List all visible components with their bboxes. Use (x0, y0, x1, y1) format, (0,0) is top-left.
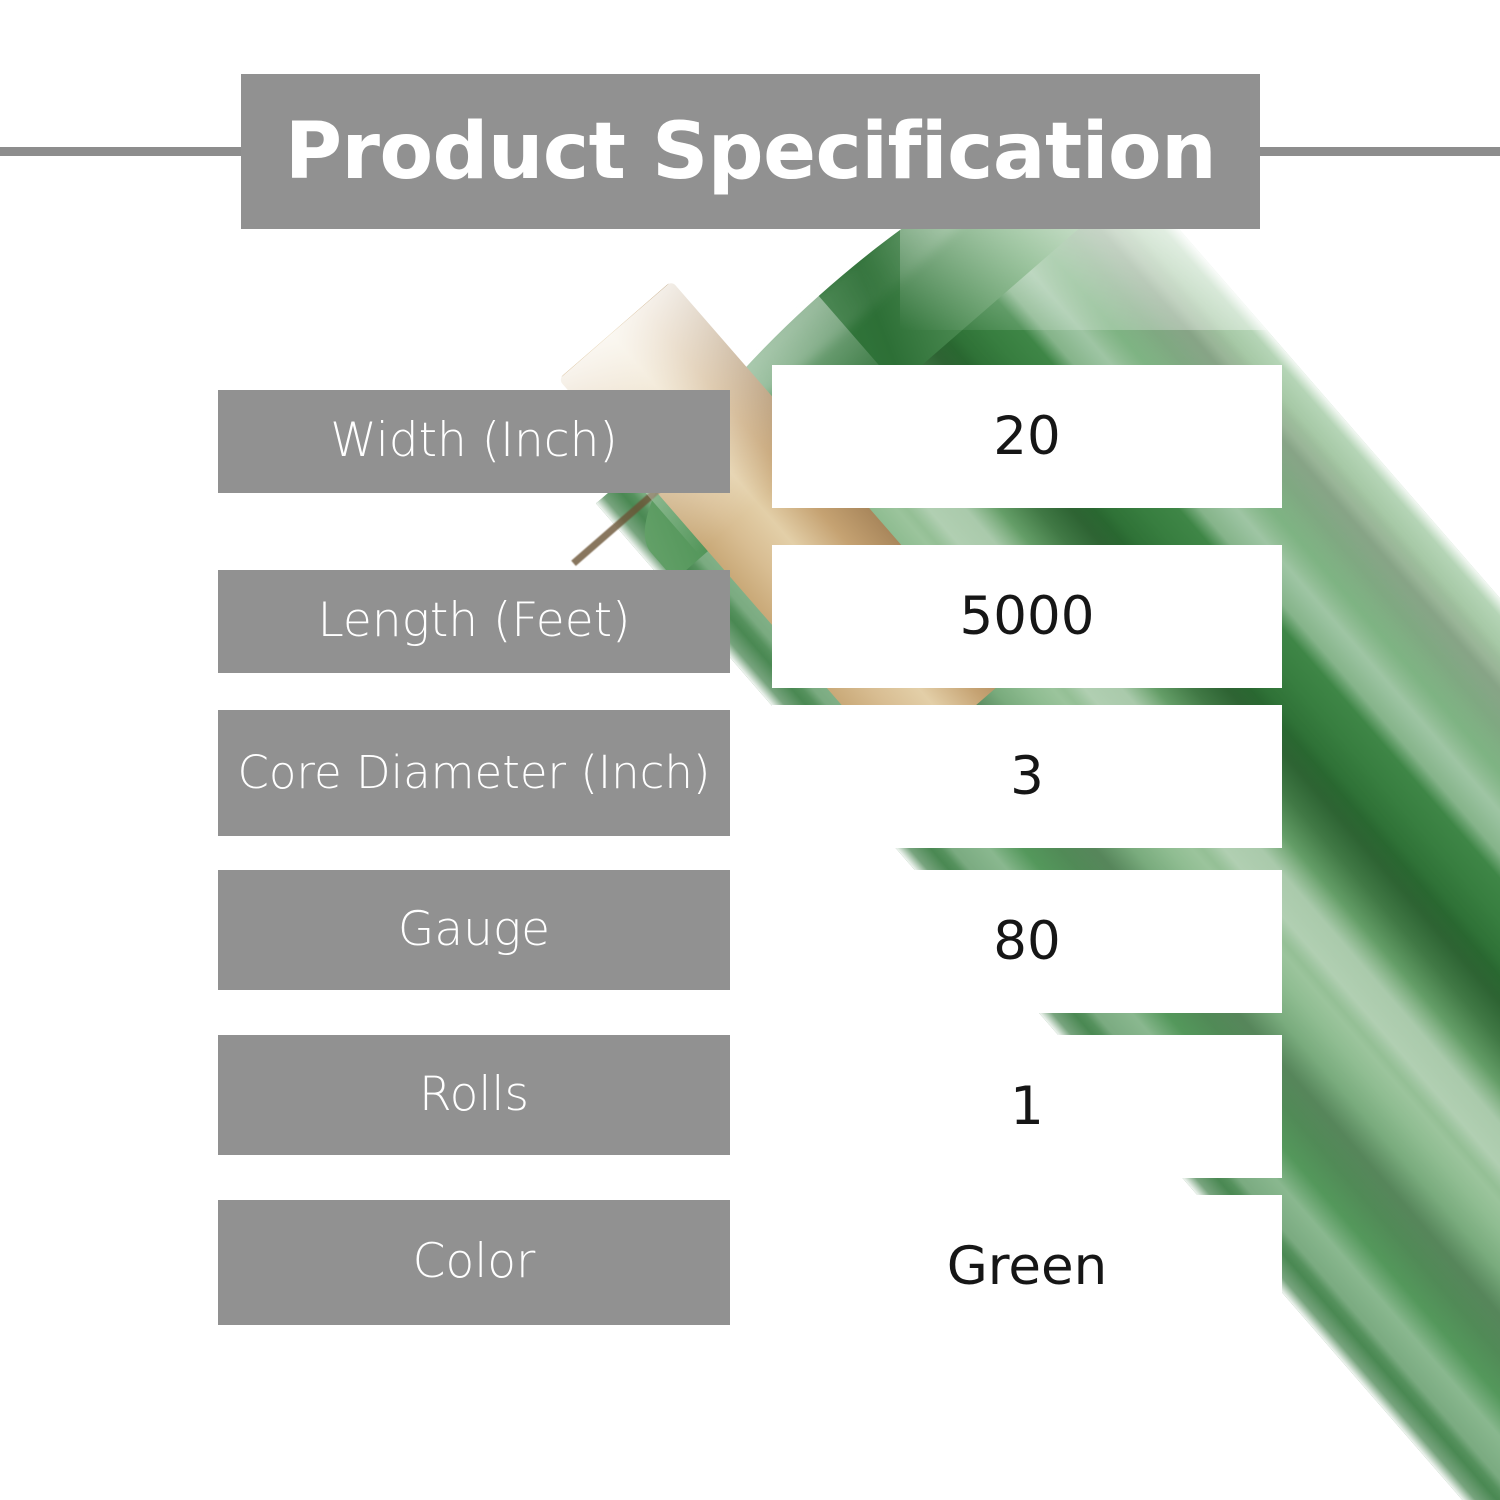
table-row: Color Green (0, 1200, 1500, 1380)
spec-label-rolls: Rolls (218, 1035, 730, 1155)
table-row: Width (Inch) 20 (0, 390, 1500, 570)
spec-label-core-diameter: Core Diameter (Inch) (218, 710, 730, 836)
spec-value-rolls: 1 (772, 1035, 1282, 1178)
spec-label-color: Color (218, 1200, 730, 1325)
specification-table: Width (Inch) 20 Length (Feet) 5000 Core … (0, 0, 1500, 1500)
table-row: Core Diameter (Inch) 3 (0, 710, 1500, 890)
table-row: Gauge 80 (0, 870, 1500, 1050)
spec-label-width: Width (Inch) (218, 390, 730, 493)
spec-value-length: 5000 (772, 545, 1282, 688)
spec-value-color: Green (772, 1195, 1282, 1338)
spec-label-gauge: Gauge (218, 870, 730, 990)
spec-value-gauge: 80 (772, 870, 1282, 1013)
spec-value-width: 20 (772, 365, 1282, 508)
spec-value-core-diameter: 3 (772, 705, 1282, 848)
table-row: Rolls 1 (0, 1035, 1500, 1215)
spec-label-length: Length (Feet) (218, 570, 730, 673)
